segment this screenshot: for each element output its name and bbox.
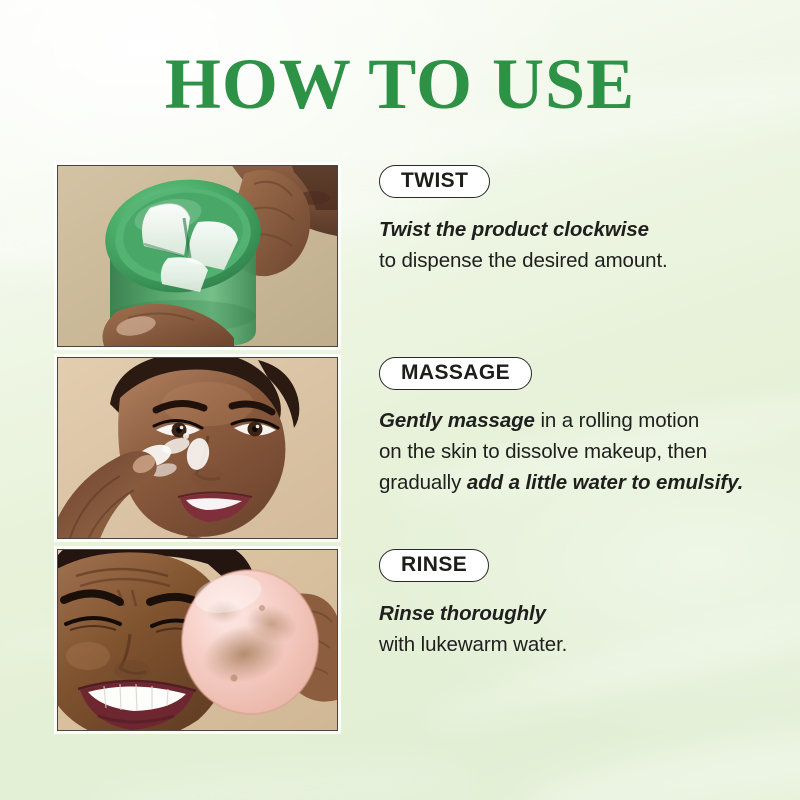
photo-rinse-puff: [58, 550, 337, 730]
step-photo-rinse: [57, 549, 338, 731]
step-description-twist: Twist the product clockwiseto dispense t…: [379, 214, 800, 276]
description-line: gradually add a little water to emulsify…: [379, 467, 800, 498]
description-line: Rinse thoroughly: [379, 598, 800, 629]
body-text: to dispense the desired amount.: [379, 249, 668, 272]
step-body-massage: MASSAGE Gently massage in a rolling moti…: [368, 357, 800, 498]
step-badge-massage: MASSAGE: [379, 357, 532, 390]
badge-wrap-massage: MASSAGE: [379, 357, 800, 390]
emphasis-text: add a little water to emulsify.: [467, 471, 743, 494]
body-text: with lukewarm water.: [379, 633, 567, 656]
emphasis-text: Twist the product clockwise: [379, 218, 649, 241]
body-text: in a rolling motion: [535, 409, 699, 432]
step-body-rinse: RINSE Rinse thoroughlywith lukewarm wate…: [368, 549, 800, 660]
page-title: HOW TO USE: [0, 44, 800, 124]
body-text: gradually: [379, 471, 467, 494]
photo-twist-balm-stick: [58, 166, 337, 346]
photo-massage-face: [58, 358, 337, 538]
badge-wrap-twist: TWIST: [379, 165, 800, 198]
how-to-use-infographic: HOW TO USE: [0, 0, 800, 800]
body-text: on the skin to dissolve makeup, then: [379, 440, 707, 463]
step-description-rinse: Rinse thoroughlywith lukewarm water.: [379, 598, 800, 660]
description-line: with lukewarm water.: [379, 629, 800, 660]
background-wisp: [518, 708, 800, 800]
emphasis-text: Gently massage: [379, 409, 535, 432]
description-line: on the skin to dissolve makeup, then: [379, 436, 800, 467]
description-line: to dispense the desired amount.: [379, 245, 800, 276]
step-badge-twist: TWIST: [379, 165, 490, 198]
step-photo-massage: [57, 357, 338, 539]
emphasis-text: Rinse thoroughly: [379, 602, 546, 625]
step-photo-twist: [57, 165, 338, 347]
step-body-twist: TWIST Twist the product clockwiseto disp…: [368, 165, 800, 276]
step-badge-rinse: RINSE: [379, 549, 489, 582]
step-description-massage: Gently massage in a rolling motionon the…: [379, 405, 800, 498]
badge-wrap-rinse: RINSE: [379, 549, 800, 582]
description-line: Gently massage in a rolling motion: [379, 405, 800, 436]
description-line: Twist the product clockwise: [379, 214, 800, 245]
background-wisp: [89, 757, 471, 800]
